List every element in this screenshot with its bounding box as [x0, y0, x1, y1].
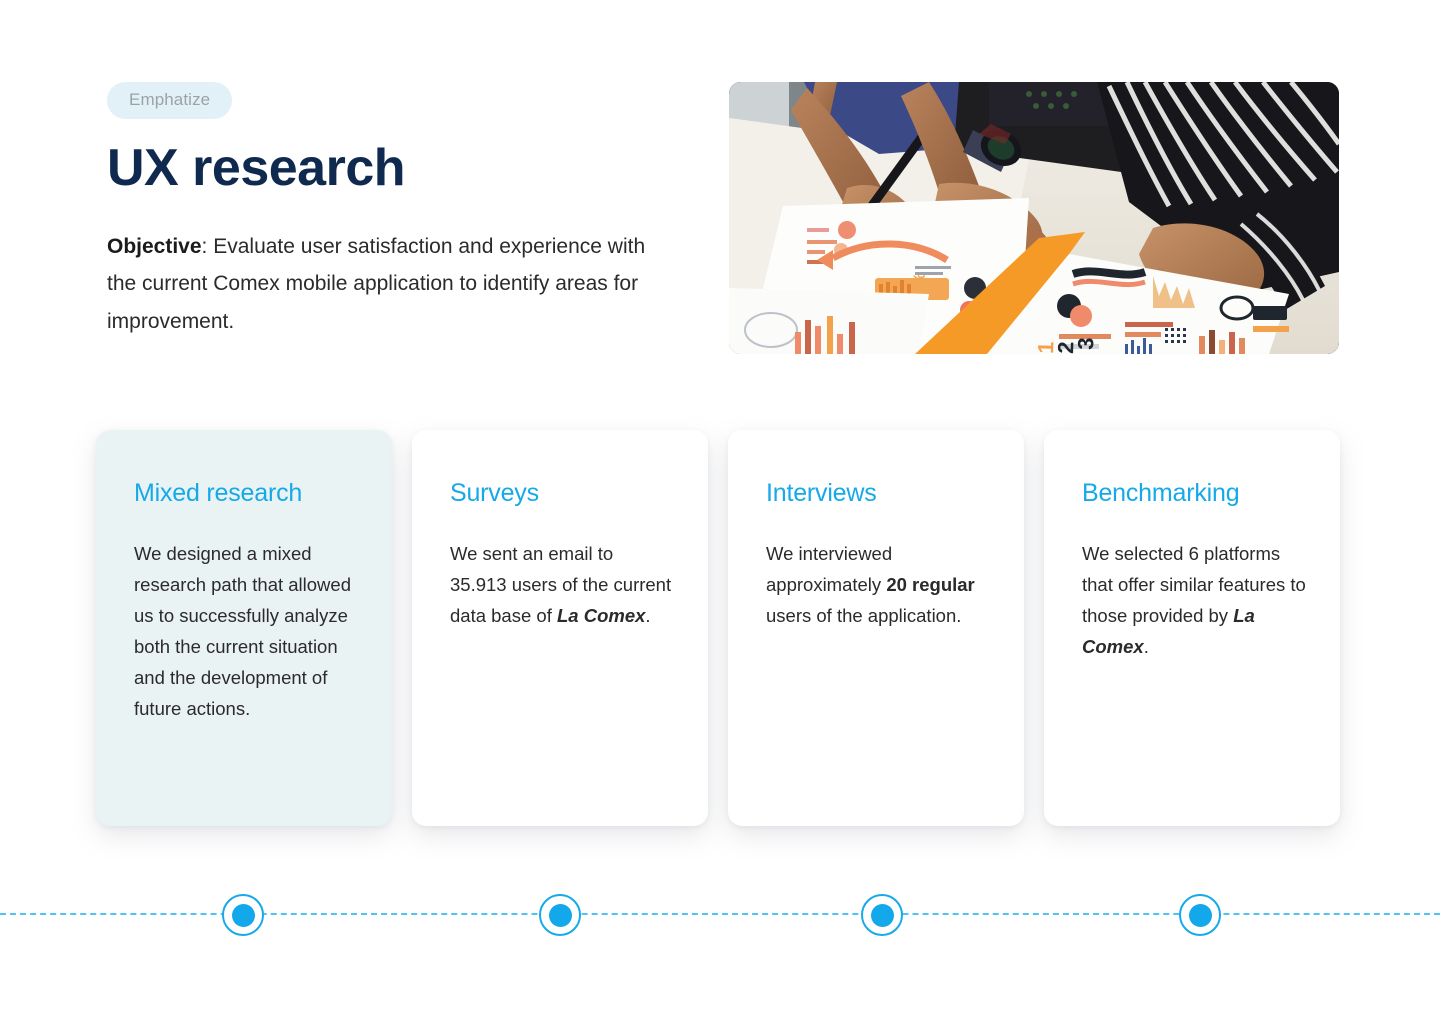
card-title: Benchmarking — [1082, 478, 1306, 508]
page-root: Emphatize UX research Objective: Evaluat… — [0, 0, 1440, 1024]
hero-photo: 80% — [729, 82, 1339, 354]
card-body-part: We selected 6 platforms that offer simil… — [1082, 543, 1306, 626]
timeline-dot-4[interactable] — [1179, 894, 1221, 936]
card-mixed-research[interactable]: Mixed research We designed a mixed resea… — [96, 430, 392, 826]
research-method-cards: Mixed research We designed a mixed resea… — [96, 430, 1344, 826]
card-body: We interviewed approximately 20 regular … — [766, 538, 990, 631]
timeline-dot-1[interactable] — [222, 894, 264, 936]
card-title: Surveys — [450, 478, 674, 508]
card-body: We selected 6 platforms that offer simil… — [1082, 538, 1306, 662]
card-body-part: . — [1144, 636, 1149, 657]
card-surveys[interactable]: Surveys We sent an email to 35.913 users… — [412, 430, 708, 826]
card-body: We designed a mixed research path that a… — [134, 538, 358, 724]
timeline-dot-3[interactable] — [861, 894, 903, 936]
card-interviews[interactable]: Interviews We interviewed approximately … — [728, 430, 1024, 826]
card-benchmarking[interactable]: Benchmarking We selected 6 platforms tha… — [1044, 430, 1340, 826]
card-title: Mixed research — [134, 478, 358, 508]
card-body-emphasis: 20 regular — [886, 574, 974, 595]
card-body-emphasis: La Comex — [557, 605, 645, 626]
workshop-photo-illustration: 80% — [729, 82, 1339, 354]
progress-timeline — [0, 894, 1440, 954]
card-body-part: We designed a mixed research path that a… — [134, 543, 351, 719]
svg-text:1: 1 — [1033, 341, 1058, 354]
card-body: We sent an email to 35.913 users of the … — [450, 538, 674, 631]
header-left-column: Emphatize UX research Objective: Evaluat… — [107, 82, 667, 340]
objective-separator: : — [202, 235, 214, 258]
objective-paragraph: Objective: Evaluate user satisfaction an… — [107, 228, 647, 340]
objective-label: Objective — [107, 235, 202, 258]
status-badge: Emphatize — [107, 82, 232, 119]
card-title: Interviews — [766, 478, 990, 508]
page-title: UX research — [107, 139, 667, 199]
timeline-dot-2[interactable] — [539, 894, 581, 936]
timeline-dashed-line — [0, 913, 1440, 915]
card-body-part: . — [645, 605, 650, 626]
card-body-part: users of the application. — [766, 605, 961, 626]
card-body-part: We interviewed approximately — [766, 543, 892, 595]
